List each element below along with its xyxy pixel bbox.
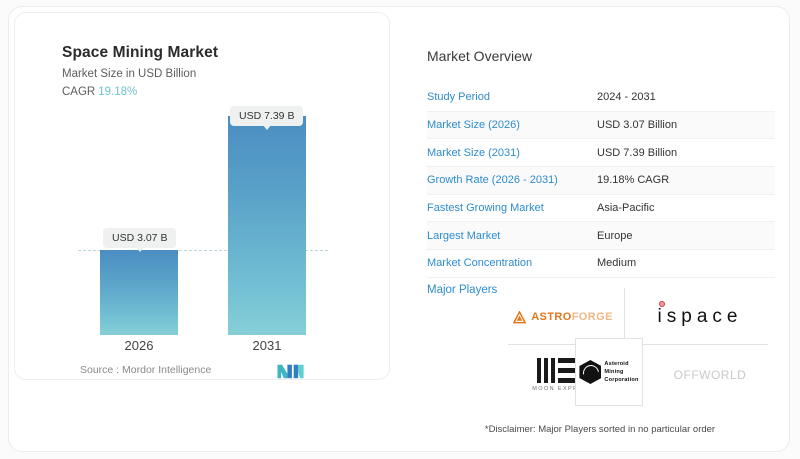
market-overview-table: Study Period 2024 - 2031 Market Size (20… xyxy=(427,84,775,278)
astroforge-text-primary: ASTRO xyxy=(531,311,572,323)
bars-container xyxy=(0,0,390,335)
row-value: Asia-Pacific xyxy=(597,202,654,214)
row-value: 2024 - 2031 xyxy=(597,91,656,103)
table-row: Fastest Growing Market Asia-Pacific xyxy=(427,195,775,223)
row-value: Medium xyxy=(597,257,636,269)
table-row: Growth Rate (2026 - 2031) 19.18% CAGR xyxy=(427,167,775,195)
row-value: Europe xyxy=(597,230,632,242)
offworld-text: OFFWORLD xyxy=(674,368,747,382)
ispace-text: ispace xyxy=(658,306,743,327)
screenshot-root: Space Mining Market Market Size in USD B… xyxy=(0,0,800,459)
bar-chart-plot: USD 3.07 B USD 7.39 B 2026 2031 xyxy=(0,0,390,390)
row-value: USD 7.39 Billion xyxy=(597,147,677,159)
table-row: Largest Market Europe xyxy=(427,222,775,250)
players-disclaimer: *Disclaimer: Major Players sorted in no … xyxy=(425,424,775,435)
table-row: Study Period 2024 - 2031 xyxy=(427,84,775,112)
amc-line3: Corporation xyxy=(604,377,638,383)
table-row: Market Size (2031) USD 7.39 Billion xyxy=(427,139,775,167)
row-key: Growth Rate (2026 - 2031) xyxy=(427,174,597,186)
row-key: Market Concentration xyxy=(427,257,597,269)
row-value: USD 3.07 Billion xyxy=(597,119,677,131)
row-key: Largest Market xyxy=(427,230,597,242)
ispace-logo: ispace xyxy=(630,294,770,340)
amc-line1: Asteroid xyxy=(604,361,628,367)
astroforge-triangle-icon xyxy=(513,311,526,324)
bar-2026[interactable] xyxy=(100,250,178,335)
row-key: Fastest Growing Market xyxy=(427,202,597,214)
asteroid-mining-corporation-logo: Asteroid Mining Corporation xyxy=(575,338,643,406)
grid-divider-vertical xyxy=(624,288,625,344)
amc-hexagon-icon xyxy=(579,360,601,384)
market-overview-title: Market Overview xyxy=(427,48,532,64)
row-key: Market Size (2026) xyxy=(427,119,597,131)
x-axis-tick-2031: 2031 xyxy=(228,338,306,353)
row-value: 19.18% CAGR xyxy=(597,174,669,186)
x-axis-tick-2026: 2026 xyxy=(100,338,178,353)
astroforge-logo: ASTROFORGE xyxy=(504,294,622,340)
row-key: Market Size (2031) xyxy=(427,147,597,159)
source-label: Source : Mordor Intelligence xyxy=(80,364,211,376)
table-row: Market Size (2026) USD 3.07 Billion xyxy=(427,112,775,140)
amc-line2: Mining xyxy=(604,369,623,375)
bar-label-2026: USD 3.07 B xyxy=(103,228,176,248)
major-players-title: Major Players xyxy=(427,284,497,296)
offworld-logo: OFFWORLD xyxy=(650,348,770,402)
ispace-dot-icon xyxy=(659,301,665,307)
mordor-intelligence-logo xyxy=(277,362,305,380)
bar-2031[interactable] xyxy=(228,116,306,335)
row-key: Study Period xyxy=(427,91,597,103)
astroforge-text-secondary: FORGE xyxy=(572,311,613,323)
bar-label-2031: USD 7.39 B xyxy=(230,106,303,126)
table-row: Market Concentration Medium xyxy=(427,250,775,278)
